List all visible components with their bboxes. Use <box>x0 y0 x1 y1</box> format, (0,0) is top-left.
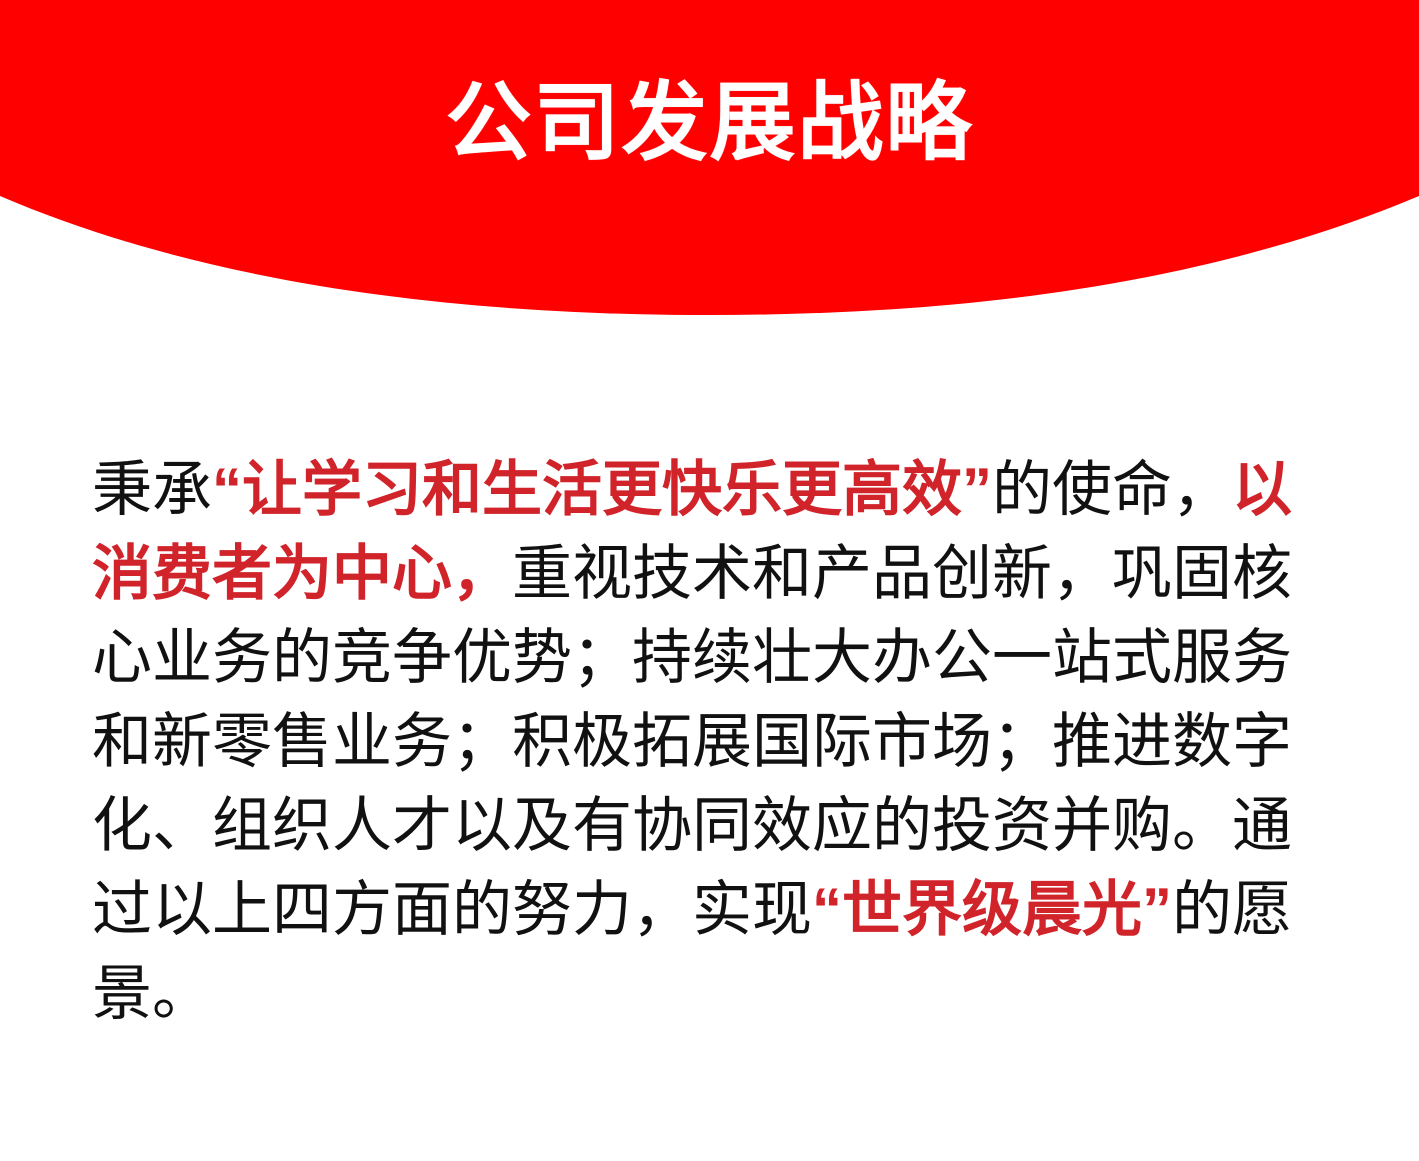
slide-canvas: 公司发展战略 秉承“让学习和生活更快乐更高效”的使命，以消费者为中心，重视技术和… <box>0 0 1419 1161</box>
paragraph-segment-vision-quote: “世界级晨光” <box>812 876 1172 943</box>
strategy-paragraph: 秉承“让学习和生活更快乐更高效”的使命，以消费者为中心，重视技术和产品创新，巩固… <box>92 448 1317 1036</box>
page-title: 公司发展战略 <box>0 78 1419 168</box>
paragraph-segment-3: 的使命， <box>992 456 1232 523</box>
body-text-block: 秉承“让学习和生活更快乐更高效”的使命，以消费者为中心，重视技术和产品创新，巩固… <box>92 448 1317 1036</box>
paragraph-segment-1: 秉承 <box>92 456 212 523</box>
paragraph-segment-mission-quote: “让学习和生活更快乐更高效” <box>212 456 992 523</box>
header-banner: 公司发展战略 <box>0 0 1419 315</box>
